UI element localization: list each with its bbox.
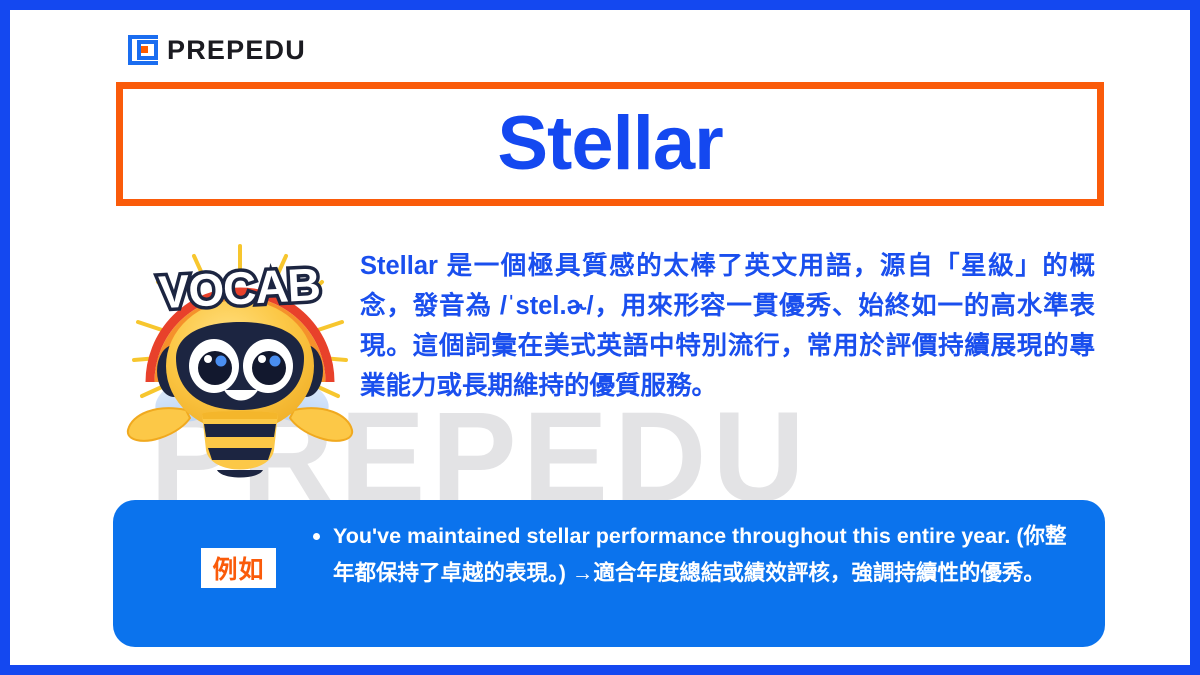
example-sentence: You've maintained stellar performance th… [333,524,1066,585]
mascot-illustration: VOCAB [124,238,356,482]
definition-text: Stellar 是一個極具質感的太棒了英文用語，源自「星級」的概念，發音為 /ˈ… [360,246,1095,406]
example-list: You've maintained stellar performance th… [311,518,1071,592]
pupil-right [252,351,286,385]
list-item: You've maintained stellar performance th… [311,518,1071,592]
example-badge: 例如 [201,548,276,588]
vocab-title-card: Stellar [116,82,1104,206]
example-section: 例如 You've maintained stellar performance… [113,500,1105,647]
bullet-icon [313,533,320,540]
bee-body [202,411,278,478]
arm-left [128,408,190,441]
prepedu-logo-icon [128,35,158,65]
arm-right [290,408,352,441]
vocab-banner: VOCAB [157,258,321,318]
pupil-left [198,351,232,385]
brand-wordmark: PREPEDU [167,35,306,66]
logo-orange-dot [141,46,148,53]
brand-logo: PREPEDU [128,33,306,67]
svg-text:VOCAB: VOCAB [157,258,321,318]
page-title: Stellar [497,106,722,182]
vocab-bee-mascot: VOCAB [124,238,356,482]
